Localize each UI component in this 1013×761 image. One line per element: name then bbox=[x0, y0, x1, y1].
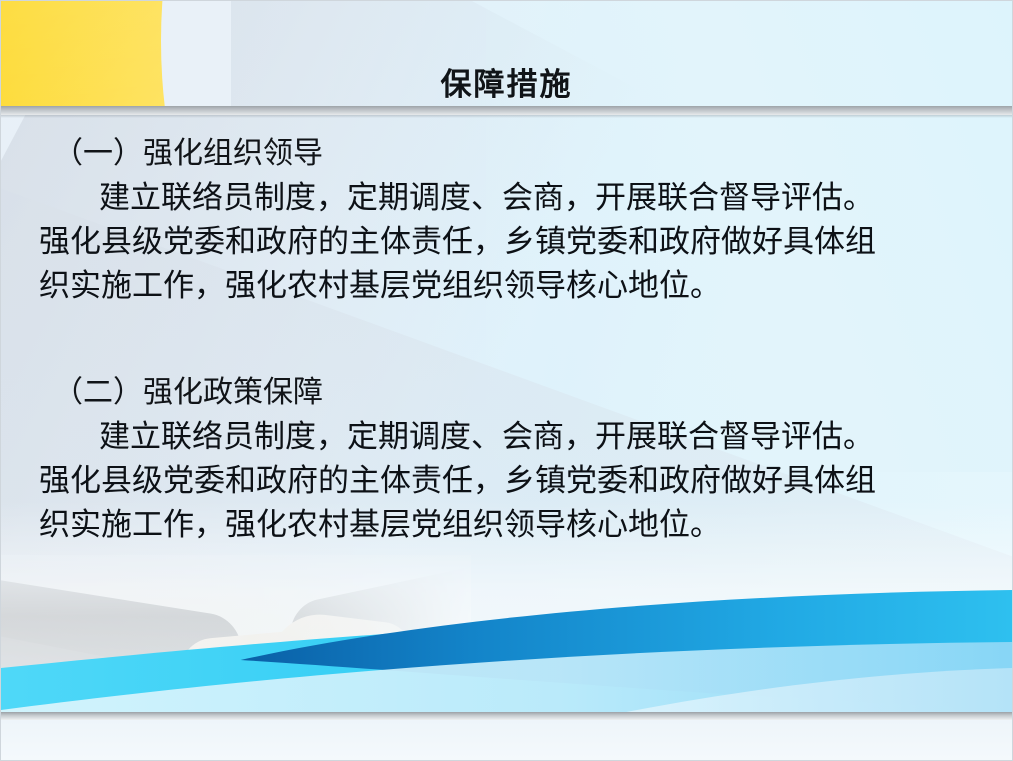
header-divider-shadow bbox=[1, 115, 1012, 118]
section-two-line-2: 强化县级党委和政府的主体责任，乡镇党委和政府做好具体组 bbox=[39, 459, 990, 503]
section-spacer bbox=[1, 308, 1013, 370]
slide-content: （一）强化组织领导 建立联络员制度，定期调度、会商，开展联合督导评估。 强化县级… bbox=[1, 131, 1013, 547]
slide-canvas: 保障措施 （一）强化组织领导 建立联络员制度，定期调度、会商，开展联合督导评估。… bbox=[0, 0, 1013, 761]
section-one-line-1: 建立联络员制度，定期调度、会商，开展联合督导评估。 bbox=[39, 176, 990, 220]
section-one-line-2: 强化县级党委和政府的主体责任，乡镇党委和政府做好具体组 bbox=[39, 220, 990, 264]
section-two: （二）强化政策保障 建立联络员制度，定期调度、会商，开展联合督导评估。 强化县级… bbox=[1, 370, 1013, 547]
section-one-heading: （一）强化组织领导 bbox=[1, 131, 1013, 176]
section-two-body: 建立联络员制度，定期调度、会商，开展联合督导评估。 强化县级党委和政府的主体责任… bbox=[1, 415, 1013, 547]
section-one: （一）强化组织领导 建立联络员制度，定期调度、会商，开展联合督导评估。 强化县级… bbox=[1, 131, 1013, 308]
footer-divider-rule bbox=[1, 712, 1012, 720]
section-two-heading: （二）强化政策保障 bbox=[1, 370, 1013, 415]
section-one-line-3: 织实施工作，强化农村基层党组织领导核心地位。 bbox=[39, 264, 990, 308]
section-one-body: 建立联络员制度，定期调度、会商，开展联合督导评估。 强化县级党委和政府的主体责任… bbox=[1, 176, 1013, 308]
section-two-line-3: 织实施工作，强化农村基层党组织领导核心地位。 bbox=[39, 503, 990, 547]
section-two-line-1: 建立联络员制度，定期调度、会商，开展联合督导评估。 bbox=[39, 415, 990, 459]
footer-strip bbox=[1, 720, 1012, 760]
header-divider-rule bbox=[1, 106, 1012, 115]
page-title: 保障措施 bbox=[1, 69, 1012, 100]
